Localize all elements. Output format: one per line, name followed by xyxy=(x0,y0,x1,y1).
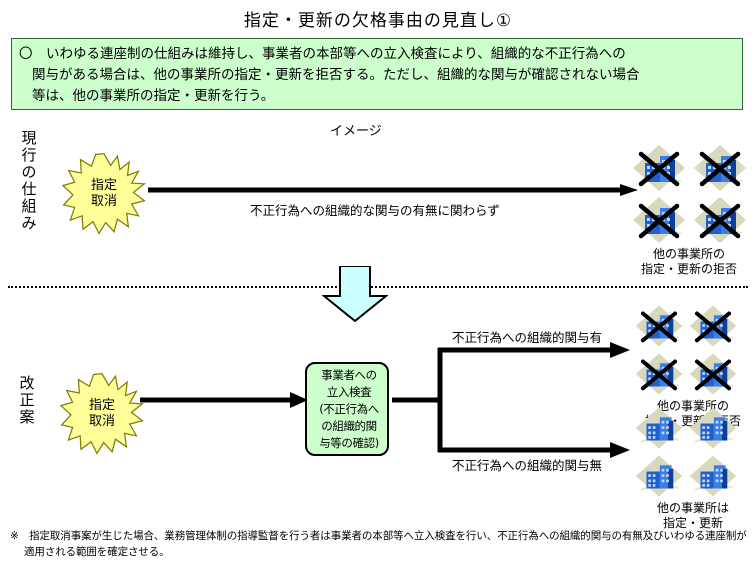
footnote-line-1: ※ 指定取消事案が生じた場合、業務管理体制の指導監督を行う者は事業者の本部等へ立… xyxy=(10,528,752,544)
section-label-current-char-2: 行 xyxy=(18,147,40,164)
building-icon xyxy=(686,452,740,500)
star-revised-line-2: 取消 xyxy=(89,414,115,430)
star-burst-current: 指定 取消 xyxy=(62,152,146,236)
building-x-icon xyxy=(632,350,686,398)
building-x-icon xyxy=(689,142,750,194)
section-label-current-char-6: み xyxy=(18,215,40,232)
building-icon xyxy=(686,404,740,452)
section-label-current-char-5: 組 xyxy=(18,198,40,215)
building-icon xyxy=(632,404,686,452)
star-current-line-1: 指定 xyxy=(91,178,117,194)
section-label-current-char-4: 仕 xyxy=(18,181,40,198)
star-burst-current-text: 指定 取消 xyxy=(62,152,146,236)
section-label-revised-char-1: 改 xyxy=(16,375,38,392)
building-x-icon xyxy=(632,302,686,350)
building-x-icon xyxy=(628,142,689,194)
result-group-current: 他の事業所の 指定・更新の拒否 xyxy=(628,142,750,277)
star-revised-line-1: 指定 xyxy=(89,398,115,414)
section-label-revised-char-2: 正 xyxy=(16,392,38,409)
summary-line-2: 関与がある場合は、他の事業所の指定・更新を拒否する。ただし、組織的な関与が確認さ… xyxy=(19,65,737,86)
section-label-current-char-1: 現 xyxy=(18,130,40,147)
building-icon xyxy=(632,452,686,500)
summary-box: 〇 いわゆる連座制の仕組みは維持し、事業者の本部等への立入検査により、組織的な不… xyxy=(11,38,743,110)
summary-line-1: 〇 いわゆる連座制の仕組みは維持し、事業者の本部等への立入検査により、組織的な不… xyxy=(19,44,737,65)
star-burst-revised-text: 指定 取消 xyxy=(60,372,144,456)
section-label-revised-char-3: 案 xyxy=(16,409,38,426)
result-caption-current-line-2: 指定・更新の拒否 xyxy=(628,262,750,277)
result-caption-current-line-1: 他の事業所の xyxy=(628,247,750,262)
section-label-current: 現 行 の 仕 組 み xyxy=(18,130,40,232)
star-current-line-2: 取消 xyxy=(91,194,117,210)
result-caption-current: 他の事業所の 指定・更新の拒否 xyxy=(628,247,750,277)
building-x-icon xyxy=(686,302,740,350)
arrow-current-flow-label: 不正行為への組織的な関与の有無に関わらず xyxy=(250,200,500,219)
building-x-icon xyxy=(628,194,689,246)
footnote: ※ 指定取消事案が生じた場合、業務管理体制の指導監督を行う者は事業者の本部等へ立… xyxy=(10,528,752,560)
building-grid-current xyxy=(628,142,750,246)
footnote-line-2: 適用される範囲を確定させる。 xyxy=(10,544,752,560)
star-burst-revised: 指定 取消 xyxy=(60,372,144,456)
decision-box-inspection: 事業者への 立入検査 (不正行為へ の組織的関 与等の確認) xyxy=(305,362,389,456)
branch-label-involvement-yes: 不正行為への組織的関与有 xyxy=(452,327,602,346)
decision-line-5: 与等の確認) xyxy=(307,435,391,452)
decision-box-text: 事業者への 立入検査 (不正行為へ の組織的関 与等の確認) xyxy=(307,367,391,452)
decision-line-4: の組織的関 xyxy=(307,418,391,435)
building-x-icon xyxy=(689,194,750,246)
transition-down-arrow-icon xyxy=(322,266,388,322)
summary-text: 〇 いわゆる連座制の仕組みは維持し、事業者の本部等への立入検査により、組織的な不… xyxy=(19,44,737,107)
slide-canvas: 指定・更新の欠格事由の見直し① 〇 いわゆる連座制の仕組みは維持し、事業者の本部… xyxy=(0,0,756,567)
result-caption-revised-no-line-1: 他の事業所は xyxy=(632,501,754,516)
decision-line-1: 事業者への xyxy=(307,367,391,384)
building-grid-revised-no xyxy=(632,404,754,500)
building-x-icon xyxy=(686,350,740,398)
arrow-current-flow xyxy=(148,184,638,196)
section-label-current-char-3: の xyxy=(18,164,40,181)
page-title: 指定・更新の欠格事由の見直し① xyxy=(0,6,756,31)
result-caption-revised-no: 他の事業所は 指定・更新 xyxy=(632,501,754,531)
result-group-revised-no: 他の事業所は 指定・更新 xyxy=(632,404,754,531)
decision-line-3: (不正行為へ xyxy=(307,401,391,418)
branch-label-involvement-no: 不正行為への組織的関与無 xyxy=(452,455,602,474)
section-label-revised: 改 正 案 xyxy=(16,375,38,426)
image-label: イメージ xyxy=(330,120,382,139)
decision-line-2: 立入検査 xyxy=(307,384,391,401)
building-grid-revised-yes xyxy=(632,302,754,398)
summary-line-3: 等は、他の事業所の指定・更新を行う。 xyxy=(19,86,737,107)
